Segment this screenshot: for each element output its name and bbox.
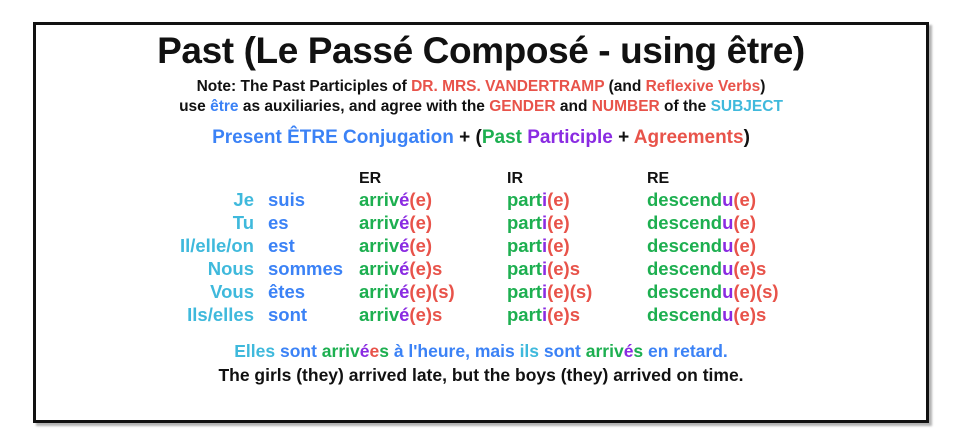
cell-auxiliary: es [254,211,359,234]
text-run: (e)(s) [547,281,592,302]
text-run: part [507,189,542,210]
text-run: à l'heure, mais [389,341,520,361]
cell-pronoun: Vous [154,280,254,303]
text-run: descend [647,189,722,210]
text-run: (e) [733,189,756,210]
note-line-1: Note: The Past Participles of DR. MRS. V… [36,77,926,98]
text-run: e [369,341,379,361]
text-run: s [379,341,389,361]
header-ir: IR [507,162,647,188]
text-run: (e) [409,212,432,233]
text-run: Reflexive Verbs [646,78,761,95]
text-run: arriv [322,341,360,361]
text-run: (e)s [547,304,580,325]
example-block: Elles sont arrivées à l'heure, mais ils … [36,340,926,387]
text-run: u [722,258,733,279]
text-run: part [507,304,542,325]
note-block: Note: The Past Participles of DR. MRS. V… [36,77,926,118]
cell-participle-ir: parti(e)s [507,303,647,326]
text-run: (e) [733,212,756,233]
text-run: (and [604,78,645,95]
text-run: ) [760,78,765,95]
table-row: Tuesarrivé(e)parti(e)descendu(e) [36,211,926,234]
cell-participle-ir: parti(e) [507,211,647,234]
cell-participle-re: descendu(e) [647,211,926,234]
text-run: (e)s [409,304,442,325]
text-run: use [179,98,210,115]
text-run: SUBJECT [711,98,783,115]
text-run: être [210,98,238,115]
text-run: descend [647,304,722,325]
cell-participle-re: descendu(e) [647,188,926,211]
text-run: descend [647,281,722,302]
cell-pronoun: Tu [154,211,254,234]
text-run: + ( [454,127,482,148]
cell-pronoun: Il/elle/on [154,234,254,257]
text-run: (e)(s) [409,281,454,302]
text-run: GENDER [489,98,555,115]
example-french: Elles sont arrivées à l'heure, mais ils … [36,340,926,364]
text-run: é [399,304,409,325]
text-run: arriv [359,189,399,210]
cell-participle-er: arrivé(e) [359,188,507,211]
text-run: DR. MRS. VANDERTRAMP [411,78,604,95]
cell-auxiliary: êtes [254,280,359,303]
cell-participle-ir: parti(e)(s) [507,280,647,303]
text-run: (e) [409,189,432,210]
text-run: é [399,212,409,233]
text-run: arriv [359,304,399,325]
header-spacer [36,162,154,188]
text-run: NUMBER [592,98,660,115]
text-run: part [507,212,542,233]
text-run: (e) [547,235,570,256]
text-run: part [507,235,542,256]
text-run: (e) [547,212,570,233]
text-run: ils [520,341,539,361]
text-run: arriv [586,341,624,361]
text-run: Agreements [634,127,744,148]
cell-participle-er: arrivé(e)(s) [359,280,507,303]
table-row: Jesuisarrivé(e)parti(e)descendu(e) [36,188,926,211]
text-run: of the [660,98,711,115]
cell-participle-er: arrivé(e)s [359,257,507,280]
text-run: u [722,212,733,233]
text-run: arriv [359,281,399,302]
row-spacer [36,257,154,280]
text-run: sont [280,341,317,361]
text-run: part [507,258,542,279]
cell-participle-er: arrivé(e) [359,234,507,257]
text-run: descend [647,235,722,256]
text-run: as auxiliaries, and agree with the [239,98,490,115]
conjugation-rows: Jesuisarrivé(e)parti(e)descendu(e)Tuesar… [36,188,926,326]
text-run: Participle [527,127,613,148]
grammar-card: Past (Le Passé Composé - using être) Not… [33,22,929,423]
header-auxiliary [254,162,359,188]
cell-participle-re: descendu(e)s [647,303,926,326]
text-run: (e)s [547,258,580,279]
cell-pronoun: Je [154,188,254,211]
header-pronoun [154,162,254,188]
text-run: s [633,341,643,361]
text-run: (e) [409,235,432,256]
cell-auxiliary: est [254,234,359,257]
cell-participle-re: descendu(e)(s) [647,280,926,303]
text-run: é [399,235,409,256]
text-run: u [722,281,733,302]
cell-pronoun: Ils/elles [154,303,254,326]
table-row: Vousêtesarrivé(e)(s)parti(e)(s)descendu(… [36,280,926,303]
text-run: sont [544,341,581,361]
text-run: (e) [547,189,570,210]
cell-participle-ir: parti(e)s [507,257,647,280]
table-row: Il/elle/onestarrivé(e)parti(e)descendu(e… [36,234,926,257]
text-run: é [399,189,409,210]
row-spacer [36,234,154,257]
cell-auxiliary: sommes [254,257,359,280]
formula-line: Present ÊTRE Conjugation + (Past Partici… [36,127,926,149]
header-er: ER [359,162,507,188]
row-spacer [36,280,154,303]
text-run: u [722,304,733,325]
text-run: (e)(s) [733,281,778,302]
text-run: Elles [234,341,275,361]
text-run: ) [744,127,750,148]
text-run: (e)s [733,304,766,325]
table-row: Ils/ellessontarrivé(e)sparti(e)sdescendu… [36,303,926,326]
cell-participle-re: descendu(e) [647,234,926,257]
cell-auxiliary: suis [254,188,359,211]
text-run: + [613,127,634,148]
text-run: (e) [733,235,756,256]
text-run: arriv [359,235,399,256]
text-run: Present ÊTRE Conjugation [212,127,454,148]
note-line-2: use être as auxiliaries, and agree with … [36,97,926,118]
conjugation-table: ER IR RE Jesuisarrivé(e)parti(e)descendu… [36,162,926,326]
cell-participle-re: descendu(e)s [647,257,926,280]
text-run: u [722,189,733,210]
text-run: descend [647,258,722,279]
text-run: and [556,98,592,115]
text-run: en retard. [643,341,728,361]
cell-participle-er: arrivé(e) [359,211,507,234]
text-run: Note: The Past Participles of [197,78,411,95]
row-spacer [36,211,154,234]
row-spacer [36,188,154,211]
text-run: (e)s [733,258,766,279]
text-run: é [399,258,409,279]
example-english: The girls (they) arrived late, but the b… [36,364,926,388]
text-run: part [507,281,542,302]
table-row: Noussommesarrivé(e)sparti(e)sdescendu(e)… [36,257,926,280]
header-re: RE [647,162,926,188]
cell-auxiliary: sont [254,303,359,326]
page-title: Past (Le Passé Composé - using être) [36,32,926,71]
cell-participle-ir: parti(e) [507,234,647,257]
text-run: descend [647,212,722,233]
text-run: (e)s [409,258,442,279]
table-header-row: ER IR RE [36,162,926,188]
text-run: Past [482,127,522,148]
cell-pronoun: Nous [154,257,254,280]
cell-participle-er: arrivé(e)s [359,303,507,326]
text-run: arriv [359,212,399,233]
text-run: é [399,281,409,302]
cell-participle-ir: parti(e) [507,188,647,211]
text-run: é [624,341,634,361]
row-spacer [36,303,154,326]
text-run: arriv [359,258,399,279]
text-run: u [722,235,733,256]
